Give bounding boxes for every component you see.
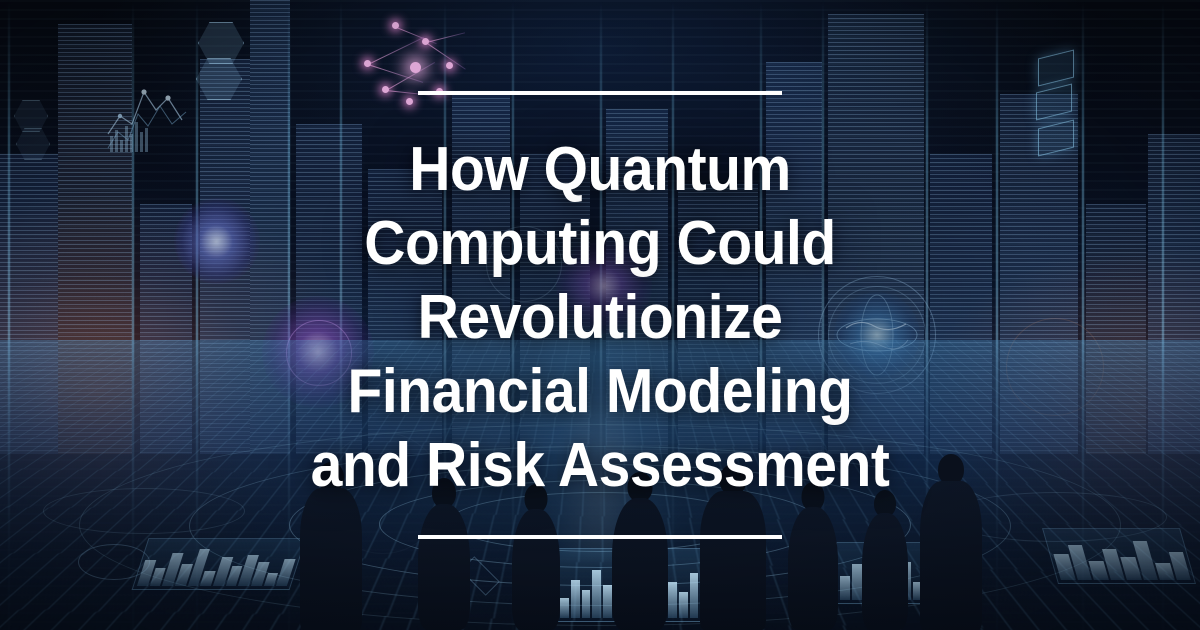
headline-block: How Quantum Computing Could Revolutioniz… — [0, 0, 1200, 630]
headline-line-1: How Quantum — [278, 133, 922, 207]
hero-banner-card: How Quantum Computing Could Revolutioniz… — [0, 0, 1200, 630]
headline-line-2: Computing Could — [278, 207, 922, 281]
bottom-rule — [418, 535, 782, 539]
headline-line-5: and Risk Assessment — [278, 429, 922, 503]
headline-line-3: Revolutionize — [278, 281, 922, 355]
headline-line-4: Financial Modeling — [278, 355, 922, 429]
page-title: How Quantum Computing Could Revolutioniz… — [278, 133, 922, 503]
top-rule — [418, 91, 782, 95]
